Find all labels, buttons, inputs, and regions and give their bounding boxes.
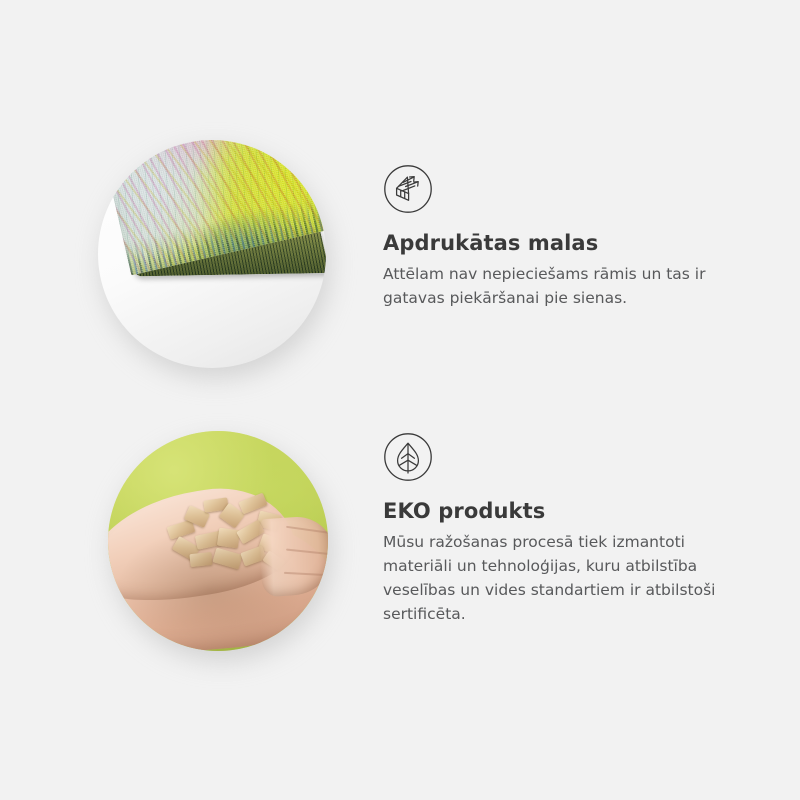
photo-clip (98, 140, 326, 368)
feature-1-description: Attēlam nav nepieciešams rāmis un tas ir… (383, 262, 739, 310)
product-features-page: Apdrukātas malas Attēlam nav nepieciešam… (0, 0, 800, 800)
feature-2-content: EKO produkts Mūsu ražošanas procesā tiek… (383, 432, 753, 626)
hands-with-wood-chips-photo (108, 431, 328, 651)
canvas-corner-photo (98, 140, 326, 368)
feature-printed-edges: Apdrukātas malas Attēlam nav nepieciešam… (0, 120, 800, 390)
leaf-icon (383, 432, 433, 482)
feature-1-title: Apdrukātas malas (383, 230, 753, 256)
feature-2-description: Mūsu ražošanas procesā tiek izmantoti ma… (383, 530, 739, 626)
feature-eko-product: EKO produkts Mūsu ražošanas procesā tiek… (0, 410, 800, 680)
wrapped-canvas-edge-icon (383, 164, 433, 214)
feature-2-title: EKO produkts (383, 498, 753, 524)
feature-1-content: Apdrukātas malas Attēlam nav nepieciešam… (383, 164, 753, 310)
photo-clip (108, 431, 328, 651)
